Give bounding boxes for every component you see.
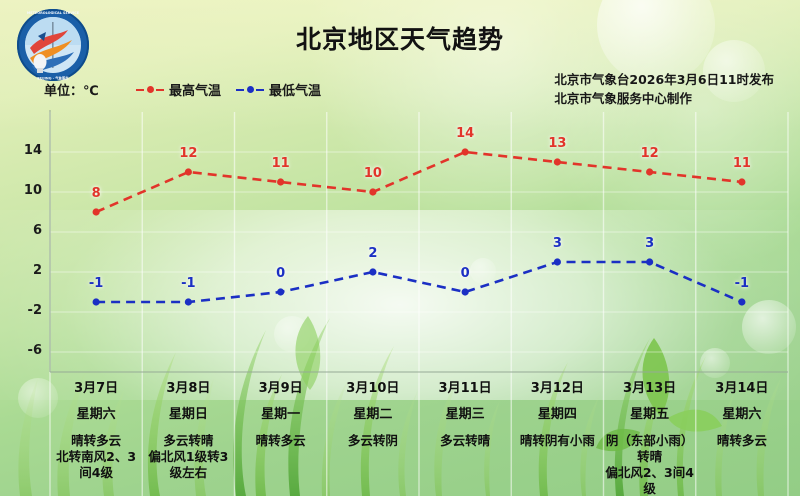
- forecast-column[interactable]: 3月10日星期二多云转阴: [327, 380, 419, 449]
- y-axis-tick-label: -2: [2, 303, 42, 318]
- data-point-marker: [646, 258, 653, 265]
- forecast-condition: 晴转多云: [696, 433, 788, 449]
- forecast-date: 3月11日: [419, 380, 511, 397]
- forecast-date: 3月9日: [235, 380, 327, 397]
- y-axis-tick-label: -6: [2, 343, 42, 358]
- data-point-marker: [554, 258, 561, 265]
- y-axis-tick-label: 14: [2, 143, 42, 158]
- forecast-weekday: 星期六: [50, 406, 142, 423]
- data-point-marker: [738, 178, 745, 185]
- forecast-date: 3月14日: [696, 380, 788, 397]
- data-point-marker: [369, 188, 376, 195]
- data-point-label: -1: [89, 276, 103, 291]
- forecast-weekday: 星期六: [696, 406, 788, 423]
- forecast-wind: 北转南风2、3间4级: [50, 449, 142, 481]
- forecast-column[interactable]: 3月13日星期五阴（东部小雨）转晴偏北风2、3间4级: [604, 380, 696, 496]
- forecast-wind: 偏北风2、3间4级: [604, 465, 696, 496]
- data-point-label: 0: [276, 266, 285, 281]
- data-point-label: 11: [272, 156, 290, 171]
- data-point-marker: [93, 298, 100, 305]
- forecast-weekday: 星期三: [419, 406, 511, 423]
- forecast-condition: 阴（东部小雨）转晴: [604, 433, 696, 465]
- forecast-condition: 晴转多云: [50, 433, 142, 449]
- data-point-marker: [369, 268, 376, 275]
- forecast-column[interactable]: 3月11日星期三多云转晴: [419, 380, 511, 449]
- data-point-marker: [462, 148, 469, 155]
- data-point-label: -1: [181, 276, 195, 291]
- data-point-marker: [185, 298, 192, 305]
- data-point-label: -1: [735, 276, 749, 291]
- forecast-date: 3月7日: [50, 380, 142, 397]
- forecast-condition: 多云转晴: [142, 433, 234, 449]
- data-point-label: 11: [733, 156, 751, 171]
- weather-trend-infographic: METEOROLOGICAL SERVICE BEIJING · 气象服务 北京…: [0, 0, 800, 496]
- data-point-marker: [277, 178, 284, 185]
- data-point-label: 10: [364, 166, 382, 181]
- data-point-label: 2: [368, 246, 377, 261]
- forecast-column[interactable]: 3月8日星期日多云转晴偏北风1级转3级左右: [142, 380, 234, 481]
- forecast-condition: 多云转晴: [419, 433, 511, 449]
- forecast-column[interactable]: 3月14日星期六晴转多云: [696, 380, 788, 449]
- forecast-weekday: 星期二: [327, 406, 419, 423]
- forecast-column[interactable]: 3月12日星期四晴转阴有小雨: [511, 380, 603, 449]
- data-point-label: 8: [92, 186, 101, 201]
- forecast-date: 3月8日: [142, 380, 234, 397]
- data-point-marker: [646, 168, 653, 175]
- data-point-marker: [277, 288, 284, 295]
- forecast-wind: 偏北风1级转3级左右: [142, 449, 234, 481]
- data-point-marker: [462, 288, 469, 295]
- data-point-label: 12: [641, 146, 659, 161]
- forecast-weekday: 星期五: [604, 406, 696, 423]
- forecast-date: 3月12日: [511, 380, 603, 397]
- forecast-weekday: 星期四: [511, 406, 603, 423]
- data-point-marker: [554, 158, 561, 165]
- data-point-label: 0: [461, 266, 470, 281]
- y-axis-tick-label: 6: [2, 223, 42, 238]
- data-point-label: 3: [553, 236, 562, 251]
- forecast-weekday: 星期一: [235, 406, 327, 423]
- forecast-condition: 多云转阴: [327, 433, 419, 449]
- data-point-label: 13: [548, 136, 566, 151]
- data-point-label: 12: [179, 146, 197, 161]
- forecast-date: 3月10日: [327, 380, 419, 397]
- forecast-column[interactable]: 3月9日星期一晴转多云: [235, 380, 327, 449]
- data-point-label: 3: [645, 236, 654, 251]
- forecast-condition: 晴转多云: [235, 433, 327, 449]
- data-point-marker: [738, 298, 745, 305]
- y-axis-tick-label: 10: [2, 183, 42, 198]
- data-point-marker: [93, 208, 100, 215]
- forecast-column[interactable]: 3月7日星期六晴转多云北转南风2、3间4级: [50, 380, 142, 481]
- forecast-date: 3月13日: [604, 380, 696, 397]
- forecast-columns: 3月7日星期六晴转多云北转南风2、3间4级3月8日星期日多云转晴偏北风1级转3级…: [0, 380, 800, 496]
- data-point-label: 14: [456, 126, 474, 141]
- forecast-weekday: 星期日: [142, 406, 234, 423]
- data-point-marker: [185, 168, 192, 175]
- y-axis-tick-label: 2: [2, 263, 42, 278]
- forecast-condition: 晴转阴有小雨: [511, 433, 603, 449]
